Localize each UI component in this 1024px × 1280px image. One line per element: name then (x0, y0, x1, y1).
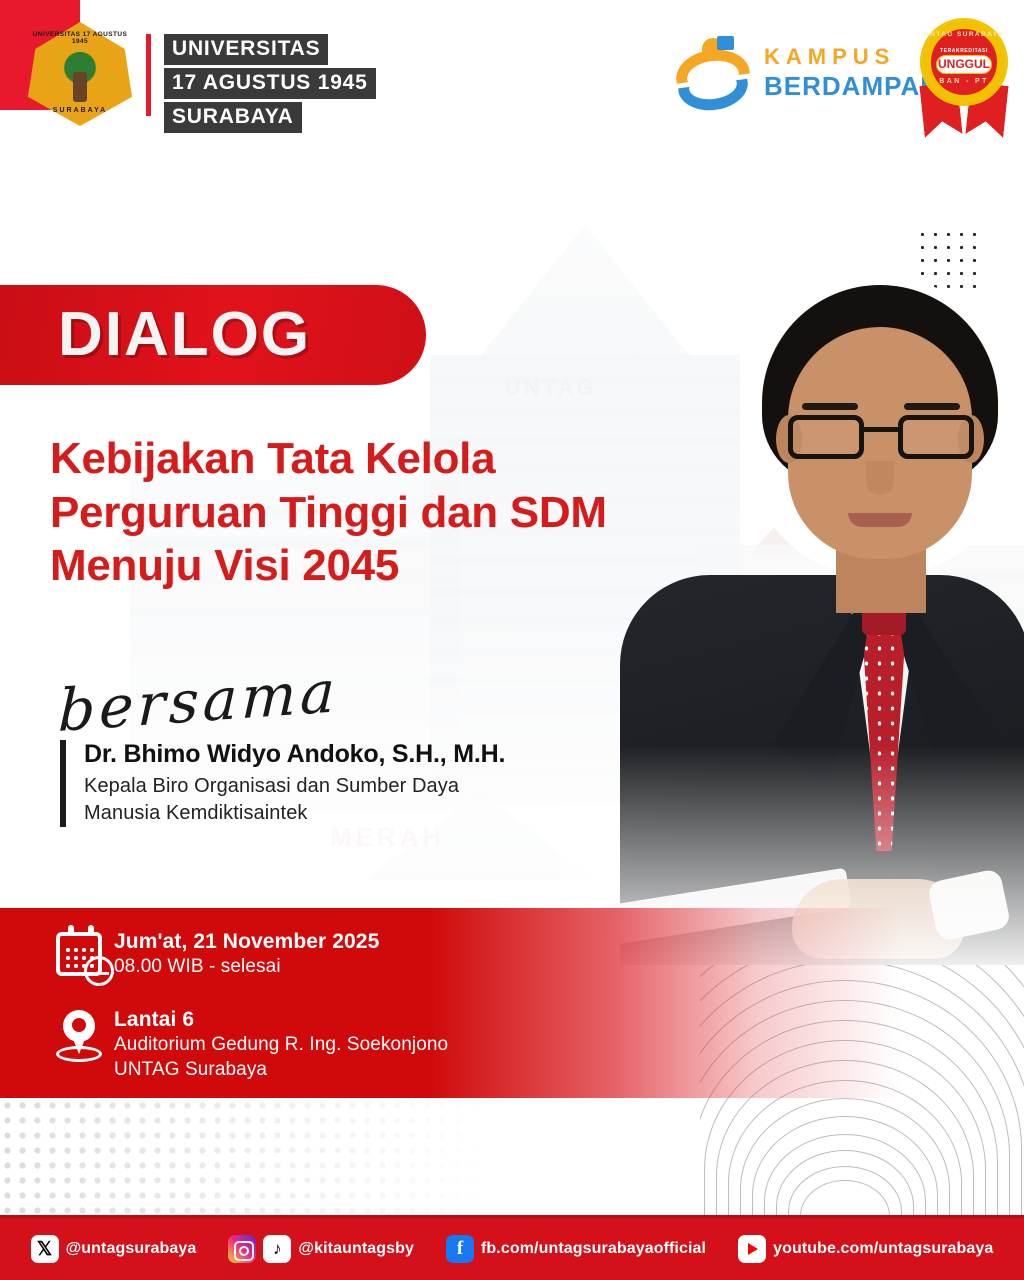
social-footer: 𝕏 @untagsurabaya ♪ @kitauntagsby f fb.co… (0, 1218, 1024, 1280)
calendar-ring-left (68, 925, 74, 936)
accreditation-arc-bottom: BAN - PT (922, 78, 1006, 85)
youtube-icon (738, 1235, 766, 1263)
footer-top-line (0, 1215, 1024, 1218)
speaker-portrait (560, 275, 1024, 955)
facebook-icon: f (446, 1235, 474, 1263)
university-name-block: UNIVERSITAS 17 AGUSTUS 1945 SURABAYA (164, 34, 376, 136)
kampus-berdampak-icon (676, 36, 752, 106)
glasses-bridge (864, 427, 898, 432)
venue-floor: Lantai 6 (114, 1008, 448, 1032)
calendar-clock-icon (56, 930, 114, 976)
event-location-row: Lantai 6 Auditorium Gedung R. Ing. Soeko… (56, 1008, 448, 1082)
portrait-mouth (848, 513, 912, 527)
pin-base-ellipse (56, 1046, 102, 1062)
clock-face (84, 956, 114, 986)
accreditation-small-label: TERAKREDITASI (922, 48, 1006, 54)
social-x-handle: @untagsurabaya (66, 1240, 197, 1258)
portrait-nose (866, 461, 894, 495)
calendar-ring-right (88, 925, 94, 936)
portrait-eyebrow-left (802, 403, 858, 410)
seal-bottom-text: SURABAYA (28, 107, 132, 114)
map-pin-icon (56, 1008, 114, 1062)
social-facebook-handle: fb.com/untagsurabayaofficial (481, 1240, 706, 1258)
accreditation-arc-top: UNTAG SURABAYA (922, 31, 1006, 38)
speaker-role-line-2: Manusia Kemdiktisaintek (84, 800, 505, 827)
pin-shape (56, 1010, 102, 1062)
social-facebook[interactable]: f fb.com/untagsurabayaofficial (446, 1235, 706, 1263)
dialog-banner: DIALOG (0, 285, 426, 385)
event-time: 08.00 WIB - selesai (114, 954, 379, 979)
portrait-eyebrow-right (904, 403, 960, 410)
dialog-banner-label: DIALOG (58, 304, 311, 366)
speaker-name: Dr. Bhimo Widyo Andoko, S.H., M.H. (84, 740, 505, 769)
social-youtube-handle: youtube.com/untagsurabaya (773, 1240, 993, 1258)
university-name-line-2: 17 AGUSTUS 1945 (164, 68, 376, 99)
event-title: Kebijakan Tata Kelola Perguruan Tinggi d… (50, 432, 750, 593)
glasses-lens-right (898, 415, 974, 459)
event-date-row: Jum'at, 21 November 2025 08.00 WIB - sel… (56, 930, 379, 979)
halftone-decoration (0, 1098, 560, 1220)
accreditation-grade: UNGGUL (936, 55, 992, 74)
speaker-role-line-1: Kepala Biro Organisasi dan Sumber Daya (84, 773, 505, 800)
instagram-icon (228, 1235, 256, 1263)
event-date-text: Jum'at, 21 November 2025 08.00 WIB - sel… (114, 930, 379, 979)
event-title-line-3: Menuju Visi 2045 (50, 539, 750, 593)
portrait-glasses (786, 415, 976, 461)
social-youtube[interactable]: youtube.com/untagsurabaya (738, 1235, 993, 1263)
calendar-body (56, 932, 102, 976)
pin-hole (72, 1018, 86, 1032)
logo-divider (146, 34, 151, 116)
venue-campus: UNTAG Surabaya (114, 1057, 448, 1082)
venue-name: Auditorium Gedung R. Ing. Soekonjono (114, 1032, 448, 1057)
social-tiktok-handle: @kitauntagsby (298, 1240, 414, 1258)
poster-canvas: UNTAG MERAH UNIVERSITAS 17 AGUSTUS 1945 … (0, 0, 1024, 1280)
x-twitter-icon: 𝕏 (31, 1235, 59, 1263)
glasses-lens-left (788, 415, 864, 459)
university-name-line-1: UNIVERSITAS (164, 34, 328, 65)
social-x[interactable]: 𝕏 @untagsurabaya (31, 1235, 197, 1263)
speaker-info-block: Dr. Bhimo Widyo Andoko, S.H., M.H. Kepal… (60, 740, 505, 827)
kb-flag (717, 36, 734, 50)
clock-hand-hour (98, 972, 109, 975)
event-details-band: Jum'at, 21 November 2025 08.00 WIB - sel… (0, 908, 1024, 1098)
event-title-line-2: Perguruan Tinggi dan SDM (50, 486, 750, 540)
header-bar: UNIVERSITAS 17 AGUSTUS 1945 SURABAYA UNI… (0, 0, 1024, 150)
event-location-text: Lantai 6 Auditorium Gedung R. Ing. Soeko… (114, 1008, 448, 1082)
social-instagram-tiktok[interactable]: ♪ @kitauntagsby (228, 1235, 414, 1263)
seal-top-text: UNIVERSITAS 17 AGUSTUS 1945 (28, 31, 132, 45)
event-title-line-1: Kebijakan Tata Kelola (50, 432, 750, 486)
university-name-line-3: SURABAYA (164, 102, 302, 133)
seal-tree-trunk (73, 72, 87, 102)
accreditation-ribbon-icon: UNTAG SURABAYA TERAKREDITASI UNGGUL BAN … (912, 18, 1016, 140)
event-date: Jum'at, 21 November 2025 (114, 930, 379, 954)
untag-seal-icon: UNIVERSITAS 17 AGUSTUS 1945 SURABAYA (28, 22, 132, 126)
tiktok-icon: ♪ (263, 1235, 291, 1263)
